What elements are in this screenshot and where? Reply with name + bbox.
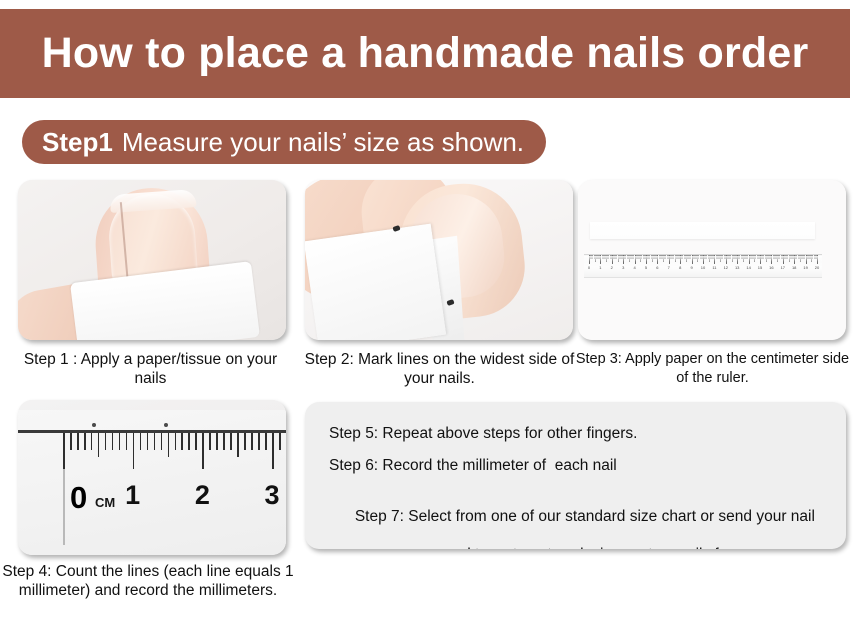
ruler-mm-tick bbox=[154, 433, 156, 450]
steps-text-panel: Step 5: Repeat above steps for other fin… bbox=[305, 402, 846, 549]
ruler-tick-label: 7 bbox=[668, 265, 670, 270]
ruler-cm-tick bbox=[272, 433, 274, 469]
ruler-mm-tick bbox=[119, 433, 121, 450]
step-6-text: Step 6: Record the millimeter of each na… bbox=[329, 456, 832, 475]
ruler-mm-tick bbox=[140, 433, 142, 450]
caption-step-2: Step 2: Mark lines on the widest side of… bbox=[297, 350, 582, 388]
ruler-mm-tick bbox=[181, 433, 183, 450]
ruler-mm-tick bbox=[84, 433, 86, 450]
ruler-mm-tick bbox=[91, 433, 93, 450]
step-7-text: Step 7: Select from one of our standard … bbox=[329, 488, 832, 549]
step1-label: Step1 bbox=[42, 127, 113, 158]
ruler-half-cm-tick bbox=[237, 433, 239, 457]
ruler-dot-right bbox=[164, 423, 168, 427]
step-5-text: Step 5: Repeat above steps for other fin… bbox=[329, 424, 832, 443]
ruler-cm-label: 3 bbox=[265, 480, 280, 511]
ruler-cm-tick bbox=[133, 433, 135, 469]
ruler-tick-label: 19 bbox=[803, 265, 807, 270]
ruler-tick-label: 12 bbox=[724, 265, 728, 270]
ruler-mm-tick bbox=[230, 433, 232, 450]
ruler-mm-tick bbox=[265, 433, 267, 450]
ruler-half-cm-tick bbox=[168, 433, 170, 457]
ruler-mm-tick bbox=[244, 433, 246, 450]
ruler-cm-tick bbox=[202, 433, 204, 469]
photo-card-mark-lines bbox=[305, 180, 573, 340]
ruler-mm-tick bbox=[161, 433, 163, 450]
ruler-mm-tick bbox=[223, 433, 225, 450]
paper-strip-shape bbox=[305, 224, 446, 340]
ruler-mm-tick bbox=[251, 433, 253, 450]
ruler-tick-label: 13 bbox=[735, 265, 739, 270]
ruler-mm-tick bbox=[188, 433, 190, 450]
ruler-mm-tick bbox=[147, 433, 149, 450]
ruler-tick-label: 17 bbox=[781, 265, 785, 270]
step1-banner: Step1 Measure your nails’ size as shown. bbox=[22, 120, 546, 164]
ruler-tick-label: 9 bbox=[690, 265, 692, 270]
ruler-mm-tick bbox=[216, 433, 218, 450]
ruler-tick-label: 4 bbox=[633, 265, 635, 270]
ruler-dot-left bbox=[92, 423, 96, 427]
ruler-tick-label: 18 bbox=[792, 265, 796, 270]
ruler-tick-label: 1 bbox=[599, 265, 601, 270]
ruler-tick-label: 20 bbox=[815, 265, 819, 270]
ruler-mm-tick bbox=[105, 433, 107, 450]
ruler-unit-label: CM bbox=[95, 495, 115, 510]
ruler-tick-label: 6 bbox=[656, 265, 658, 270]
photo-card-paper-on-ruler: 01234567891011121314151617181920 bbox=[578, 180, 846, 340]
ruler-tick-label: 16 bbox=[769, 265, 773, 270]
ruler-tick-label: 15 bbox=[758, 265, 762, 270]
caption-step-3: Step 3: Apply paper on the centimeter si… bbox=[570, 350, 855, 388]
ruler-tick-label: 5 bbox=[645, 265, 647, 270]
ruler-tick-label: 2 bbox=[611, 265, 613, 270]
ruler-mm-tick bbox=[112, 433, 114, 450]
paper-strip-shape bbox=[590, 222, 815, 239]
ruler-tick-scale bbox=[63, 433, 286, 473]
ruler-mm-tick bbox=[279, 433, 281, 450]
ruler-tick-label: 8 bbox=[679, 265, 681, 270]
ruler-tick-label: 10 bbox=[701, 265, 705, 270]
step-7-line-2: record to us to get exclusive custom nai… bbox=[329, 545, 832, 549]
ruler-mm-tick bbox=[258, 433, 260, 450]
ruler-tick-label: 11 bbox=[712, 265, 716, 270]
ruler-tick-label: 3 bbox=[622, 265, 624, 270]
ruler-mm-tick bbox=[77, 433, 79, 450]
step-7-line-1: Step 7: Select from one of our standard … bbox=[355, 508, 815, 525]
ruler-cm-tick bbox=[63, 433, 65, 469]
ruler-cm-label: 2 bbox=[195, 480, 210, 511]
ruler-zero-label: 0 bbox=[70, 480, 87, 516]
steps-list: Step 5: Repeat above steps for other fin… bbox=[329, 424, 832, 549]
ruler-mm-tick bbox=[175, 433, 177, 450]
photo-card-apply-paper bbox=[18, 180, 286, 340]
ruler-mm-tick bbox=[195, 433, 197, 450]
photo-card-ruler-closeup: 0 CM 123 bbox=[18, 400, 286, 555]
ruler-cm-label: 1 bbox=[125, 480, 140, 511]
page-title: How to place a handmade nails order bbox=[42, 29, 809, 78]
caption-step-1: Step 1 : Apply a paper/tissue on your na… bbox=[8, 350, 293, 388]
step1-instruction: Measure your nails’ size as shown. bbox=[122, 127, 524, 158]
caption-step-4: Step 4: Count the lines (each line equal… bbox=[2, 562, 294, 600]
ruler-mm-tick bbox=[70, 433, 72, 450]
ruler-tick-label: 14 bbox=[746, 265, 750, 270]
ruler-highlight bbox=[584, 256, 822, 262]
ruler-mm-tick bbox=[209, 433, 211, 450]
page-header-banner: How to place a handmade nails order bbox=[0, 9, 850, 98]
ruler-half-cm-tick bbox=[98, 433, 100, 457]
ruler-mm-tick bbox=[126, 433, 128, 450]
ruler-tick-label: 0 bbox=[588, 265, 590, 270]
